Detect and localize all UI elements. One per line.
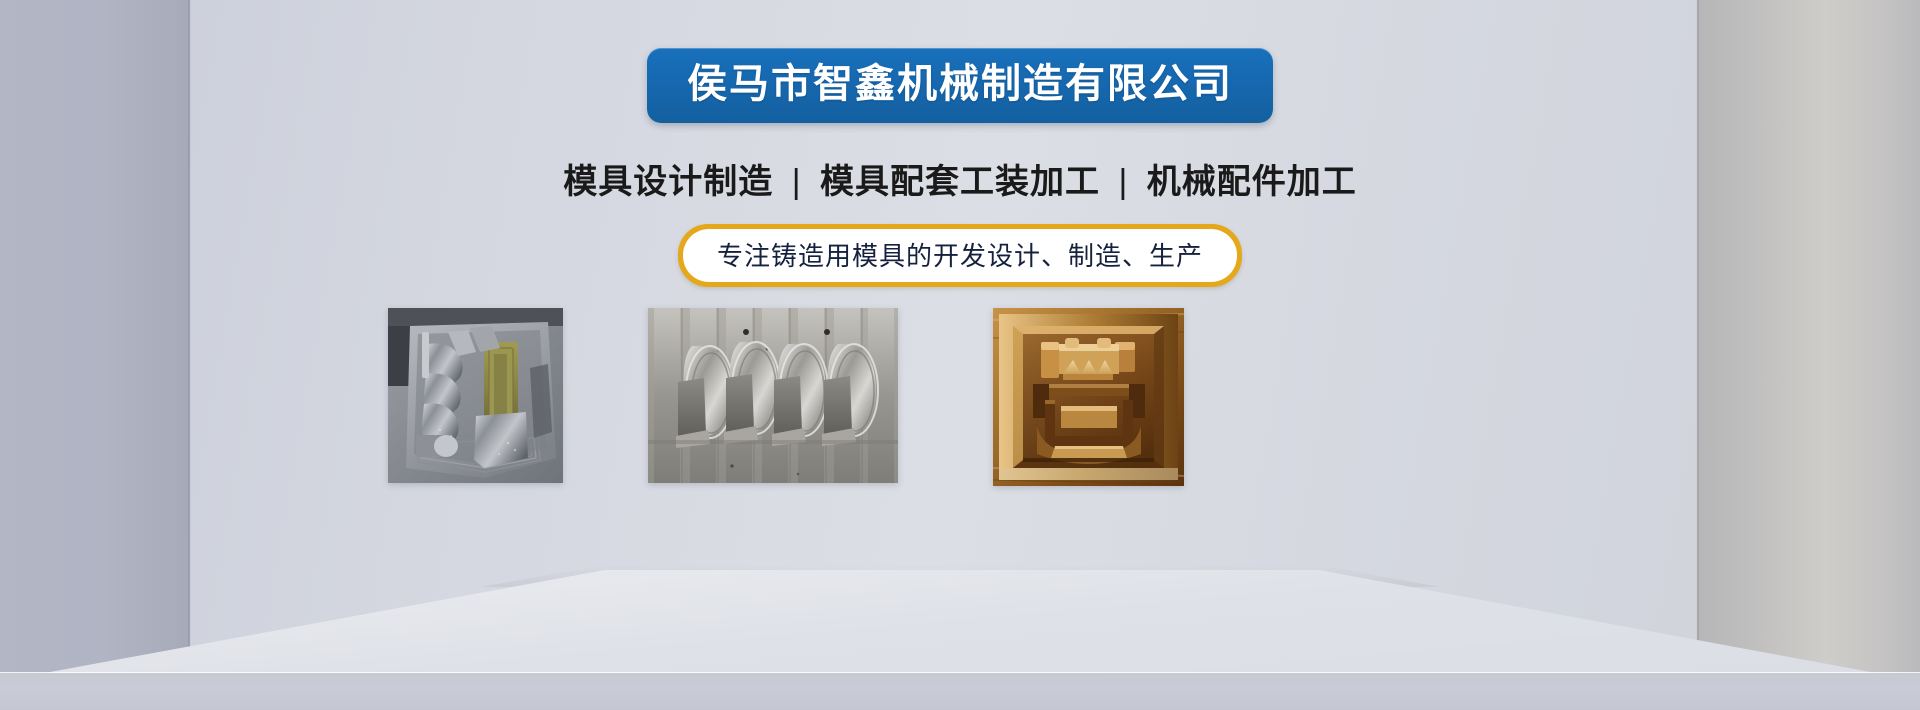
tagline-pill: 专注铸造用模具的开发设计、制造、生产 bbox=[678, 224, 1242, 287]
promotional-banner: 侯马市智鑫机械制造有限公司 模具设计制造 | 模具配套工装加工 | 机械配件加工… bbox=[0, 0, 1920, 710]
product-photo-metal-die-cavity[interactable]: 铝合金模具型腔 - 机加工金属模具 bbox=[388, 308, 563, 483]
wooden-mould-pattern-icon bbox=[993, 308, 1184, 486]
service-separator-2: | bbox=[1110, 163, 1136, 201]
service-item-2: 模具配套工装加工 bbox=[820, 163, 1100, 201]
product-photo-wooden-mould[interactable]: 木制模型 - 铸造用木模 bbox=[993, 308, 1184, 486]
service-separator-1: | bbox=[784, 163, 810, 201]
service-item-3: 机械配件加工 bbox=[1147, 163, 1357, 201]
banner-content: 侯马市智鑫机械制造有限公司 模具设计制造 | 模具配套工装加工 | 机械配件加工… bbox=[0, 0, 1920, 710]
company-title-box: 侯马市智鑫机械制造有限公司 bbox=[647, 48, 1273, 123]
crankshaft-pattern-icon bbox=[648, 308, 898, 483]
tagline-pill-inner: 专注铸造用模具的开发设计、制造、生产 bbox=[683, 229, 1237, 282]
company-name: 侯马市智鑫机械制造有限公司 bbox=[687, 62, 1233, 107]
metal-die-cavity-icon bbox=[388, 308, 563, 483]
product-photo-crankshaft-pattern[interactable]: 曲轴模具 - 抛光铝制模具型芯 bbox=[648, 308, 898, 483]
service-item-1: 模具设计制造 bbox=[563, 163, 773, 201]
product-photo-strip: 铝合金模具型腔 - 机加工金属模具 bbox=[388, 308, 1184, 488]
tagline-text: 专注铸造用模具的开发设计、制造、生产 bbox=[717, 241, 1203, 271]
services-line: 模具设计制造 | 模具配套工装加工 | 机械配件加工 bbox=[563, 154, 1357, 203]
